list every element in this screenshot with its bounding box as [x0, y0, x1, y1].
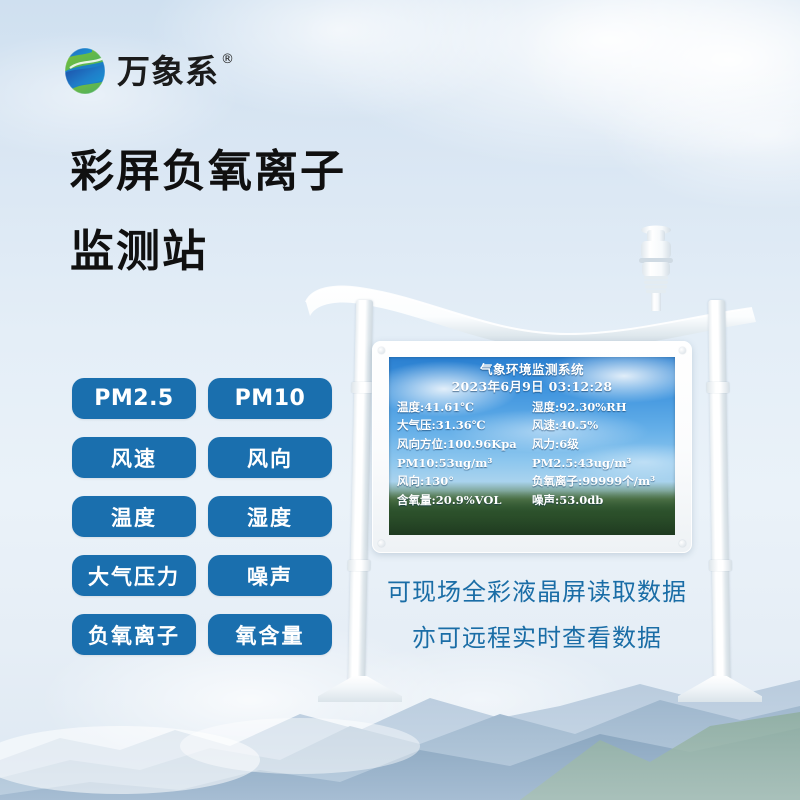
- brand-name-text: 万象系: [117, 52, 219, 91]
- page-title-line1: 彩屏负氧离子: [70, 150, 490, 194]
- caption-line1: 可现场全彩液晶屏读取数据: [372, 580, 702, 604]
- screen-reading-right: 风力:6级: [532, 435, 667, 454]
- globe-swirl-icon: [62, 46, 108, 96]
- feature-badge[interactable]: 湿度: [208, 496, 332, 537]
- feature-badge[interactable]: 负氧离子: [72, 614, 196, 655]
- feature-badge[interactable]: 风向: [208, 437, 332, 478]
- screen-reading-right: 湿度:92.30%RH: [532, 398, 667, 417]
- screen-reading-row: 温度:41.61℃湿度:92.30%RH: [397, 398, 667, 417]
- feature-badge[interactable]: 噪声: [208, 555, 332, 596]
- registered-trademark-icon: ®: [221, 53, 235, 66]
- screen-reading-left: 温度:41.61℃: [397, 398, 532, 417]
- feature-badge[interactable]: 大气压力: [72, 555, 196, 596]
- screen-reading-left: PM10:53ug/m³: [397, 454, 532, 473]
- feature-caption: 可现场全彩液晶屏读取数据 亦可远程实时查看数据: [372, 580, 702, 650]
- screen-reading-right: 噪声:53.0db: [532, 491, 667, 510]
- panel-screw: [378, 347, 385, 354]
- caption-line2: 亦可远程实时查看数据: [372, 626, 702, 650]
- lcd-display-panel[interactable]: 气象环境监测系统 2023年6月9日 03:12:28 温度:41.61℃湿度:…: [372, 341, 692, 553]
- screen-reading-row: 大气压:31.36℃风速:40.5%: [397, 416, 667, 435]
- product-poster: 万象系 ® 彩屏负氧离子 监测站 PM2.5PM10风速风向温度湿度大气压力噪声…: [0, 0, 800, 800]
- feature-badge[interactable]: 风速: [72, 437, 196, 478]
- screen-reading-row: 风向方位:100.96Kpa风力:6级: [397, 435, 667, 454]
- feature-badge[interactable]: 温度: [72, 496, 196, 537]
- screen-reading-right: PM2.5:43ug/m³: [532, 454, 667, 473]
- page-title: 彩屏负氧离子 监测站: [70, 150, 490, 274]
- screen-datetime: 2023年6月9日 03:12:28: [397, 378, 667, 396]
- screen-reading-row: PM10:53ug/m³PM2.5:43ug/m³: [397, 454, 667, 473]
- brand-logo: 万象系 ®: [62, 46, 219, 96]
- feature-badge[interactable]: PM2.5: [72, 378, 196, 419]
- screen-reading-left: 风向:130°: [397, 472, 532, 491]
- page-title-line2: 监测站: [70, 230, 490, 274]
- screen-title: 气象环境监测系统: [397, 362, 667, 378]
- feature-badge[interactable]: 氧含量: [208, 614, 332, 655]
- cloud-shape: [520, 0, 800, 160]
- screen-reading-left: 风向方位:100.96Kpa: [397, 435, 532, 454]
- feature-badge[interactable]: PM10: [208, 378, 332, 419]
- screen-reading-left: 大气压:31.36℃: [397, 416, 532, 435]
- screen-reading-list: 温度:41.61℃湿度:92.30%RH大气压:31.36℃风速:40.5%风向…: [397, 398, 667, 510]
- screen-reading-left: 含氧量:20.9%VOL: [397, 491, 532, 510]
- cloud-shape: [300, 0, 800, 170]
- screen-reading-right: 负氧离子:99999个/m³: [532, 472, 667, 491]
- screen-reading-row: 含氧量:20.9%VOL噪声:53.0db: [397, 491, 667, 510]
- panel-screw: [679, 540, 686, 547]
- cloud-shape: [600, 60, 800, 210]
- screen-reading-right: 风速:40.5%: [532, 416, 667, 435]
- panel-screw: [679, 347, 686, 354]
- feature-badge-list: PM2.5PM10风速风向温度湿度大气压力噪声负氧离子氧含量: [72, 378, 332, 655]
- screen-readout: 气象环境监测系统 2023年6月9日 03:12:28 温度:41.61℃湿度:…: [389, 357, 675, 535]
- lcd-screen[interactable]: 气象环境监测系统 2023年6月9日 03:12:28 温度:41.61℃湿度:…: [389, 357, 675, 535]
- brand-name: 万象系 ®: [117, 55, 219, 88]
- screen-reading-row: 风向:130°负氧离子:99999个/m³: [397, 472, 667, 491]
- panel-screw: [378, 540, 385, 547]
